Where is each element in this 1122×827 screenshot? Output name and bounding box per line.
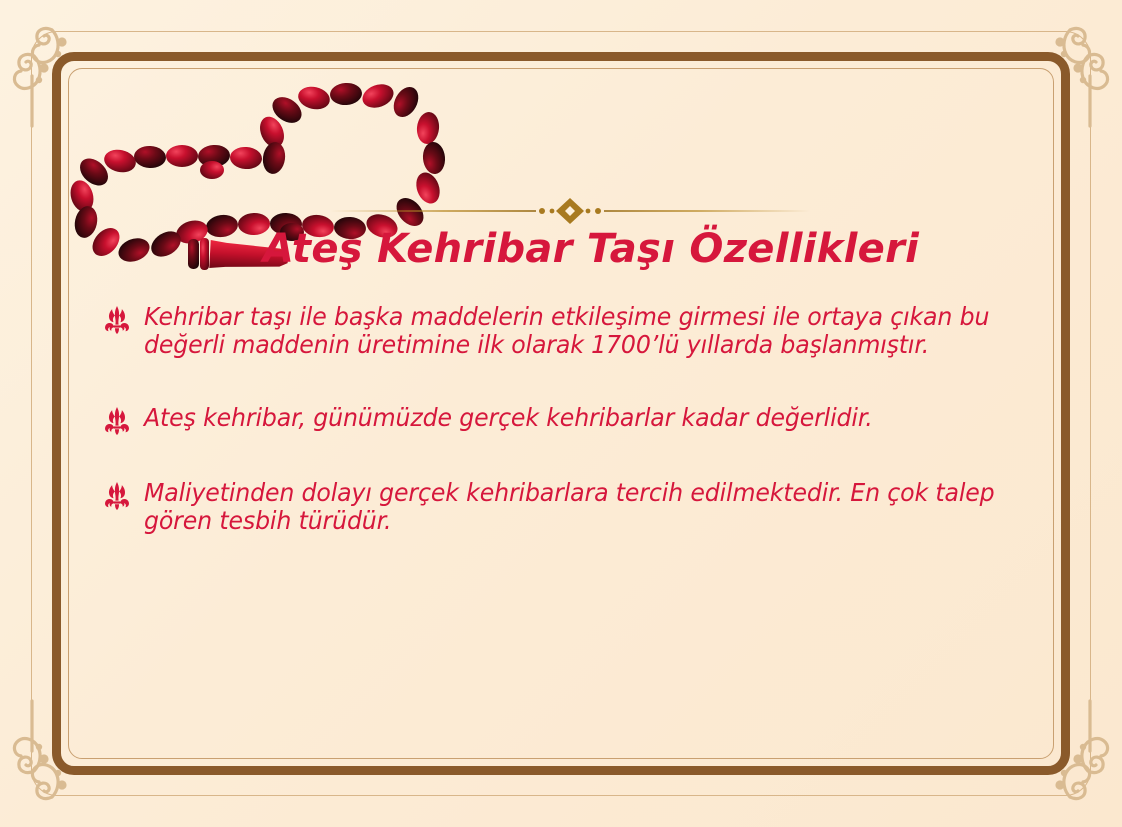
infographic-page: Ateş Kehribar Taşı Özellikleri Kehribar … xyxy=(0,0,1122,827)
page-title: Ateş Kehribar Taşı Özellikleri xyxy=(0,226,1122,272)
corner-ornament-top-left xyxy=(8,8,136,136)
corner-ornament-bottom-right xyxy=(986,691,1114,819)
fleur-de-lis-icon xyxy=(104,407,130,435)
features-list: Kehribar taşı ile başka maddelerin etkil… xyxy=(104,303,1034,536)
list-item-text: Maliyetinden dolayı gerçek kehribarlara … xyxy=(144,479,1003,536)
fleur-de-lis-icon xyxy=(104,482,130,510)
corner-ornament-top-right xyxy=(986,8,1114,136)
list-item: Ateş kehribar, günümüzde gerçek kehribar… xyxy=(104,404,1034,435)
list-item-text: Ateş kehribar, günümüzde gerçek kehribar… xyxy=(144,404,1003,432)
gold-diamond-divider xyxy=(330,196,810,226)
list-item: Maliyetinden dolayı gerçek kehribarlara … xyxy=(104,479,1034,536)
fleur-de-lis-icon xyxy=(104,306,130,334)
list-item-text: Kehribar taşı ile başka maddelerin etkil… xyxy=(144,303,1003,360)
corner-ornament-bottom-left xyxy=(8,691,136,819)
list-item: Kehribar taşı ile başka maddelerin etkil… xyxy=(104,303,1034,360)
